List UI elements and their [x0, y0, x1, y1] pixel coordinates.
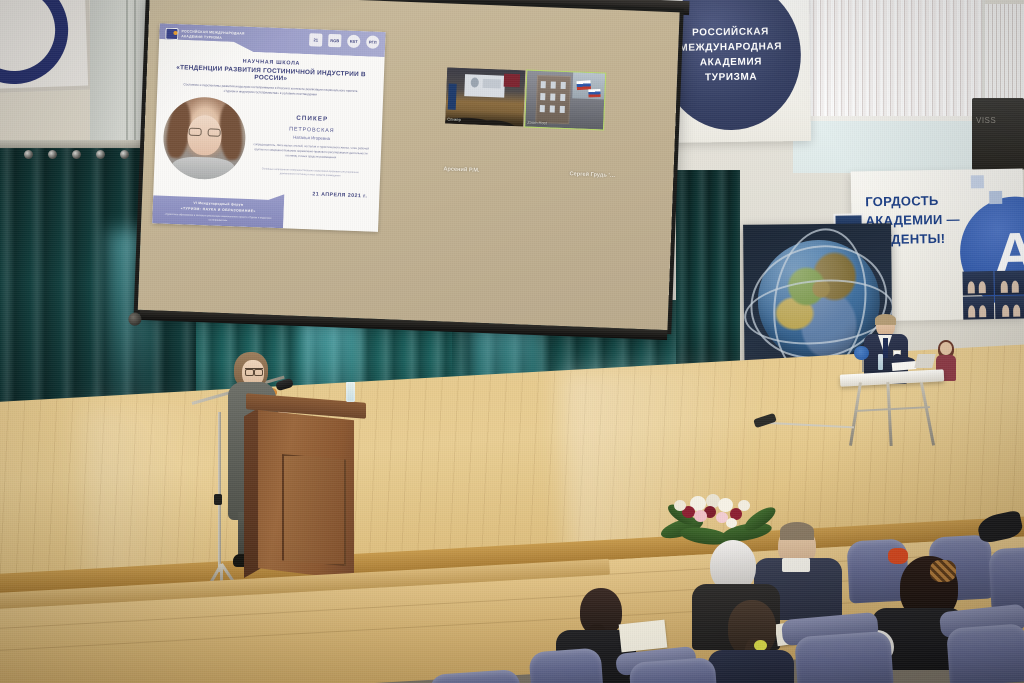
wall-loudspeaker: VISS — [972, 98, 1024, 170]
presentation-slide: РОССИЙСКАЯ МЕЖДУНАРОДНАЯ АКАДЕМИЯ ТУРИЗМ… — [152, 23, 386, 232]
video-conference-tiles: Спикер Zoom Host — [445, 67, 605, 129]
papers — [892, 361, 917, 371]
slide-title-block: НАУЧНАЯ ШКОЛА «ТЕНДЕНЦИИ РАЗВИТИЯ ГОСТИН… — [157, 55, 384, 100]
slide-footer-content: VI Международный форум «ТУРИЗМ: НАУКА И … — [152, 189, 284, 228]
slide-partner-logos: 21 RGB RSТ РГЛ — [309, 33, 379, 49]
seat — [429, 669, 521, 683]
seat — [794, 631, 894, 683]
attendee-silhouette — [976, 510, 1024, 545]
seat — [946, 623, 1024, 683]
attendee-paper — [619, 620, 668, 653]
partner-logo-4: РГЛ — [366, 35, 379, 48]
seat — [988, 547, 1024, 612]
partner-logo-1: 21 — [309, 33, 322, 46]
video-tile-host[interactable]: Zoom Host — [525, 71, 605, 130]
speaker-topic-note: Основные направления совершенствования н… — [248, 167, 372, 180]
vertical-blinds — [796, 0, 982, 118]
partner-logo-2: RGB — [328, 34, 341, 47]
wall-emblem-poster — [0, 0, 92, 95]
speaker-portrait — [162, 96, 247, 181]
speaker-role: сопредседатель, Лига малых отелей, хосте… — [249, 142, 373, 161]
water-glass — [346, 382, 355, 402]
banner-academy-circle: РОССИЙСКАЯ МЕЖДУНАРОДНАЯ АКАДЕМИЯ ТУРИЗМ… — [660, 0, 802, 131]
banner-academy-line-4: ТУРИЗМА — [705, 72, 757, 84]
slide-organization-logo: РОССИЙСКАЯ МЕЖДУНАРОДНАЯ АКАДЕМИЯ ТУРИЗМ… — [165, 28, 245, 43]
table-flag — [854, 346, 869, 360]
participant-name-2: Сергей Грудь '… — [569, 171, 615, 179]
globe-emblem-icon — [0, 0, 70, 86]
water-bottle — [878, 354, 883, 370]
hall-window — [796, 0, 982, 118]
laptop — [914, 354, 935, 368]
video-participant-names: Арсений Р.М. Сергей Грудь '… — [443, 166, 615, 179]
banner-students-line-1: ГОРДОСТЬ — [865, 191, 983, 212]
video-tile-label: Спикер — [447, 117, 461, 123]
slide-body: СПИКЕР ПЕТРОВСКАЯ Наталья Игоревна сопре… — [154, 95, 383, 186]
banner-academy-line-2: МЕЖДУНАРОДНАЯ — [679, 41, 782, 53]
speaker-label: СПИКЕР — [250, 113, 374, 125]
banner-academy-line-1: РОССИЙСКАЯ — [692, 26, 769, 38]
slide-speaker-block: СПИКЕР ПЕТРОВСКАЯ Наталья Игоревна сопре… — [244, 99, 375, 186]
slide-footer-line-3: «Туристское образование в контексте реал… — [152, 212, 283, 225]
presidium-table-group — [840, 316, 952, 452]
presidium-table-items — [834, 366, 944, 386]
audience-seating — [0, 500, 1024, 683]
glasses-icon — [245, 368, 263, 373]
attendee-top — [708, 650, 794, 683]
seat — [529, 648, 604, 683]
banner-students-photo-grid — [962, 270, 1024, 319]
window-lower-panel — [793, 121, 985, 173]
academy-logo-icon — [165, 28, 178, 40]
banner-academy-line-3: АКАДЕМИЯ — [700, 57, 762, 69]
partner-logo-3: RSТ — [347, 35, 360, 48]
video-tile-speaker[interactable]: Спикер — [445, 67, 525, 126]
conference-hall-photo: VISS РОССИЙСКАЯ МЕЖДУНАРОДНАЯ АКАДЕМИЯ Т… — [0, 0, 1024, 683]
participant-name-1: Арсений Р.М. — [443, 166, 479, 173]
video-tile-label: Zoom Host — [527, 120, 547, 126]
flag-icon — [588, 89, 600, 97]
projection-screen: РОССИЙСКАЯ МЕЖДУНАРОДНАЯ АКАДЕМИЯ ТУРИЗМ… — [138, 0, 680, 330]
